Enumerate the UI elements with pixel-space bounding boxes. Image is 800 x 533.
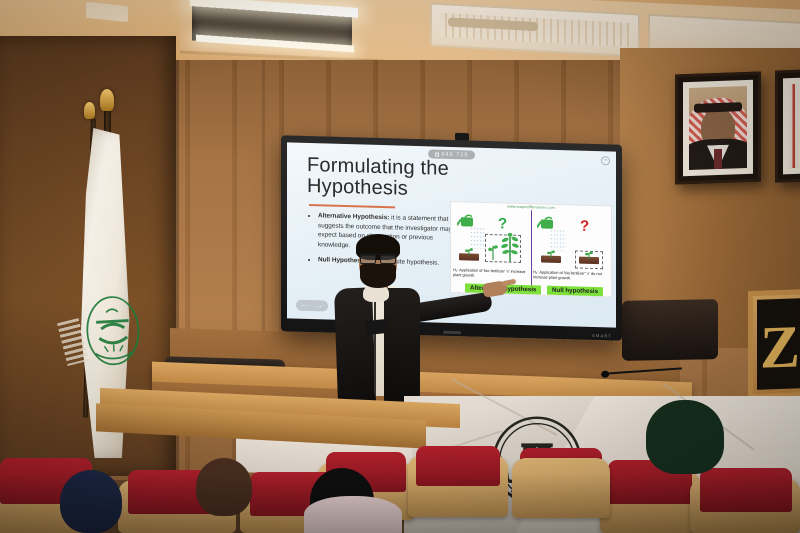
sprout-icon [584,249,594,259]
jordan-flag-icon [789,84,799,168]
presenter [330,228,520,408]
seat-cushion [416,446,500,486]
portrait-tie [714,149,722,169]
slide-title: Formulating the Hypothesis [307,155,467,202]
executive-chair-right [622,299,718,361]
portrait-photo [689,86,747,170]
display-brand-logo: SMART [592,333,612,339]
screen-share-icon [435,152,439,156]
minimize-icon[interactable]: − [601,156,610,165]
diagram-watermark: www.majordifferences.com [507,205,555,210]
attendee-brown-hair [196,458,252,516]
nav-forward-icon[interactable]: → [316,302,323,309]
glasses-icon [360,254,396,261]
attendee-green-hijab [646,400,724,474]
title-underline [309,204,395,208]
lectern-monogram: Z [757,298,800,390]
pole-finial-icon [100,89,114,111]
portrait-frame-king [675,71,761,184]
attendee-navy-hijab [60,470,122,533]
portrait-frame-flag [775,69,800,182]
pole-finial-icon [84,102,95,119]
presenter-badge [365,319,388,335]
presenter-jacket-left [334,287,376,403]
agal-band-icon [694,103,742,114]
slide-navigation[interactable]: ← → [296,300,328,312]
nav-back-icon[interactable]: ← [301,302,308,309]
presenter-jacket-right [384,288,420,403]
presenter-jacket-zip [374,298,376,394]
seat-cushion [700,468,792,512]
lectern-panel: Z [748,289,800,399]
caption-null: H₀: Application of 'bio-fertilizer' 'x' … [533,269,607,282]
university-emblem-icon [82,289,144,378]
portrait-photo [789,84,799,168]
presenter-pointing-finger [502,279,517,287]
question-mark-red: ? [580,219,589,234]
diagram-panel-null: ? H₀: Application of 'bio-fertilizer' 'x… [531,211,611,299]
sprout-icon [546,248,556,258]
attendee-pink-hijab [304,496,402,533]
label-null-hypothesis: Null hypothesis [547,286,603,297]
seat-back [512,458,610,518]
lecture-hall-photo: Z 646 725 − Formulating the Hypothesis A… [0,0,800,533]
presenter-beard [360,264,396,288]
